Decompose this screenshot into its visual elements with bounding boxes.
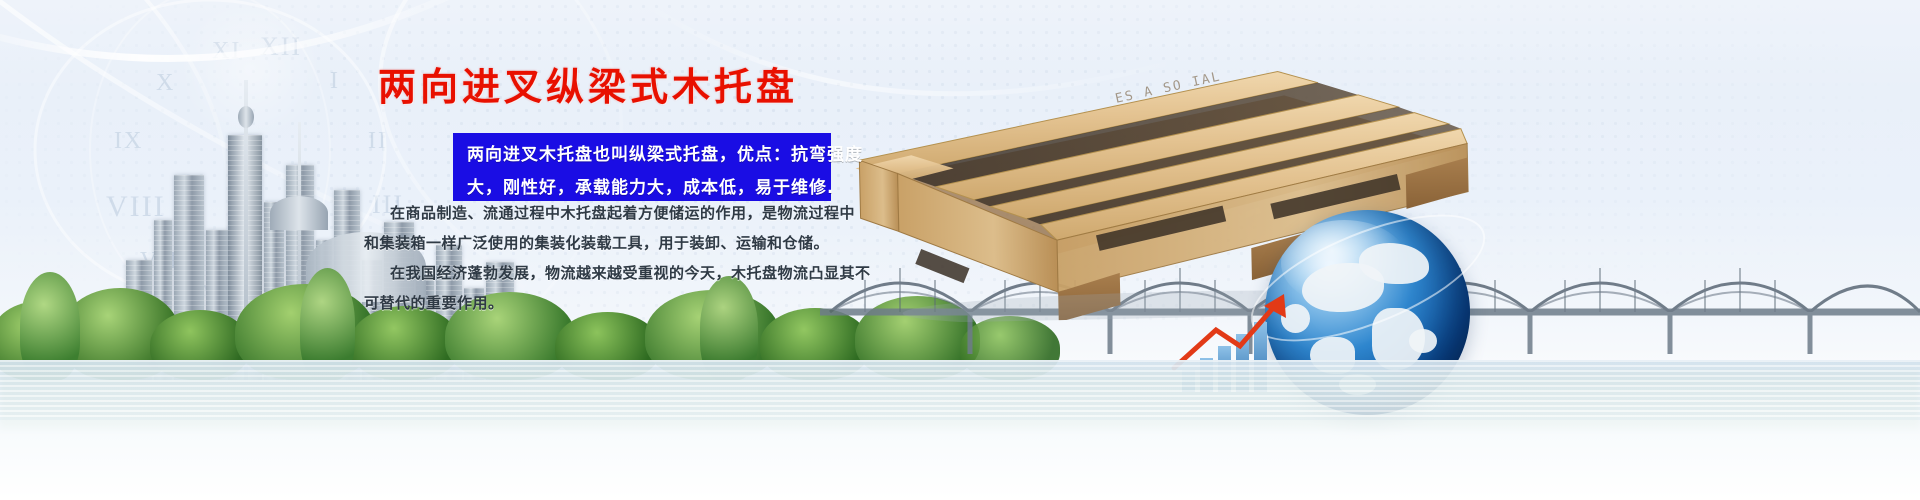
body-paragraph-line-2: 和集装箱一样广泛使用的集装化装载工具，用于装卸、运输和仓储。 (364, 228, 844, 258)
body-paragraph-line-1: 在商品制造、流通过程中木托盘起着方便储运的作用，是物流过程中 (364, 198, 844, 228)
body-paragraph-line-4: 可替代的重要作用。 (364, 288, 844, 318)
product-banner: XII I II III IV V VI VII VIII IX X XI (0, 0, 1920, 500)
water-reflection-band (0, 360, 1920, 500)
highlight-callout-box: 两向进叉木托盘也叫纵梁式托盘，优点：抗弯强度 大，刚性好，承载能力大，成本低，易… (453, 133, 831, 201)
highlight-line-1: 两向进叉木托盘也叫纵梁式托盘，优点：抗弯强度 (467, 139, 819, 172)
body-copy: 在商品制造、流通过程中木托盘起着方便储运的作用，是物流过程中 和集装箱一样广泛使… (364, 198, 844, 318)
page-title: 两向进叉纵梁式木托盘 (378, 56, 798, 111)
body-paragraph-line-3: 在我国经济蓬勃发展，物流越来越受重视的今天，木托盘物流凸显其不 (364, 258, 844, 288)
